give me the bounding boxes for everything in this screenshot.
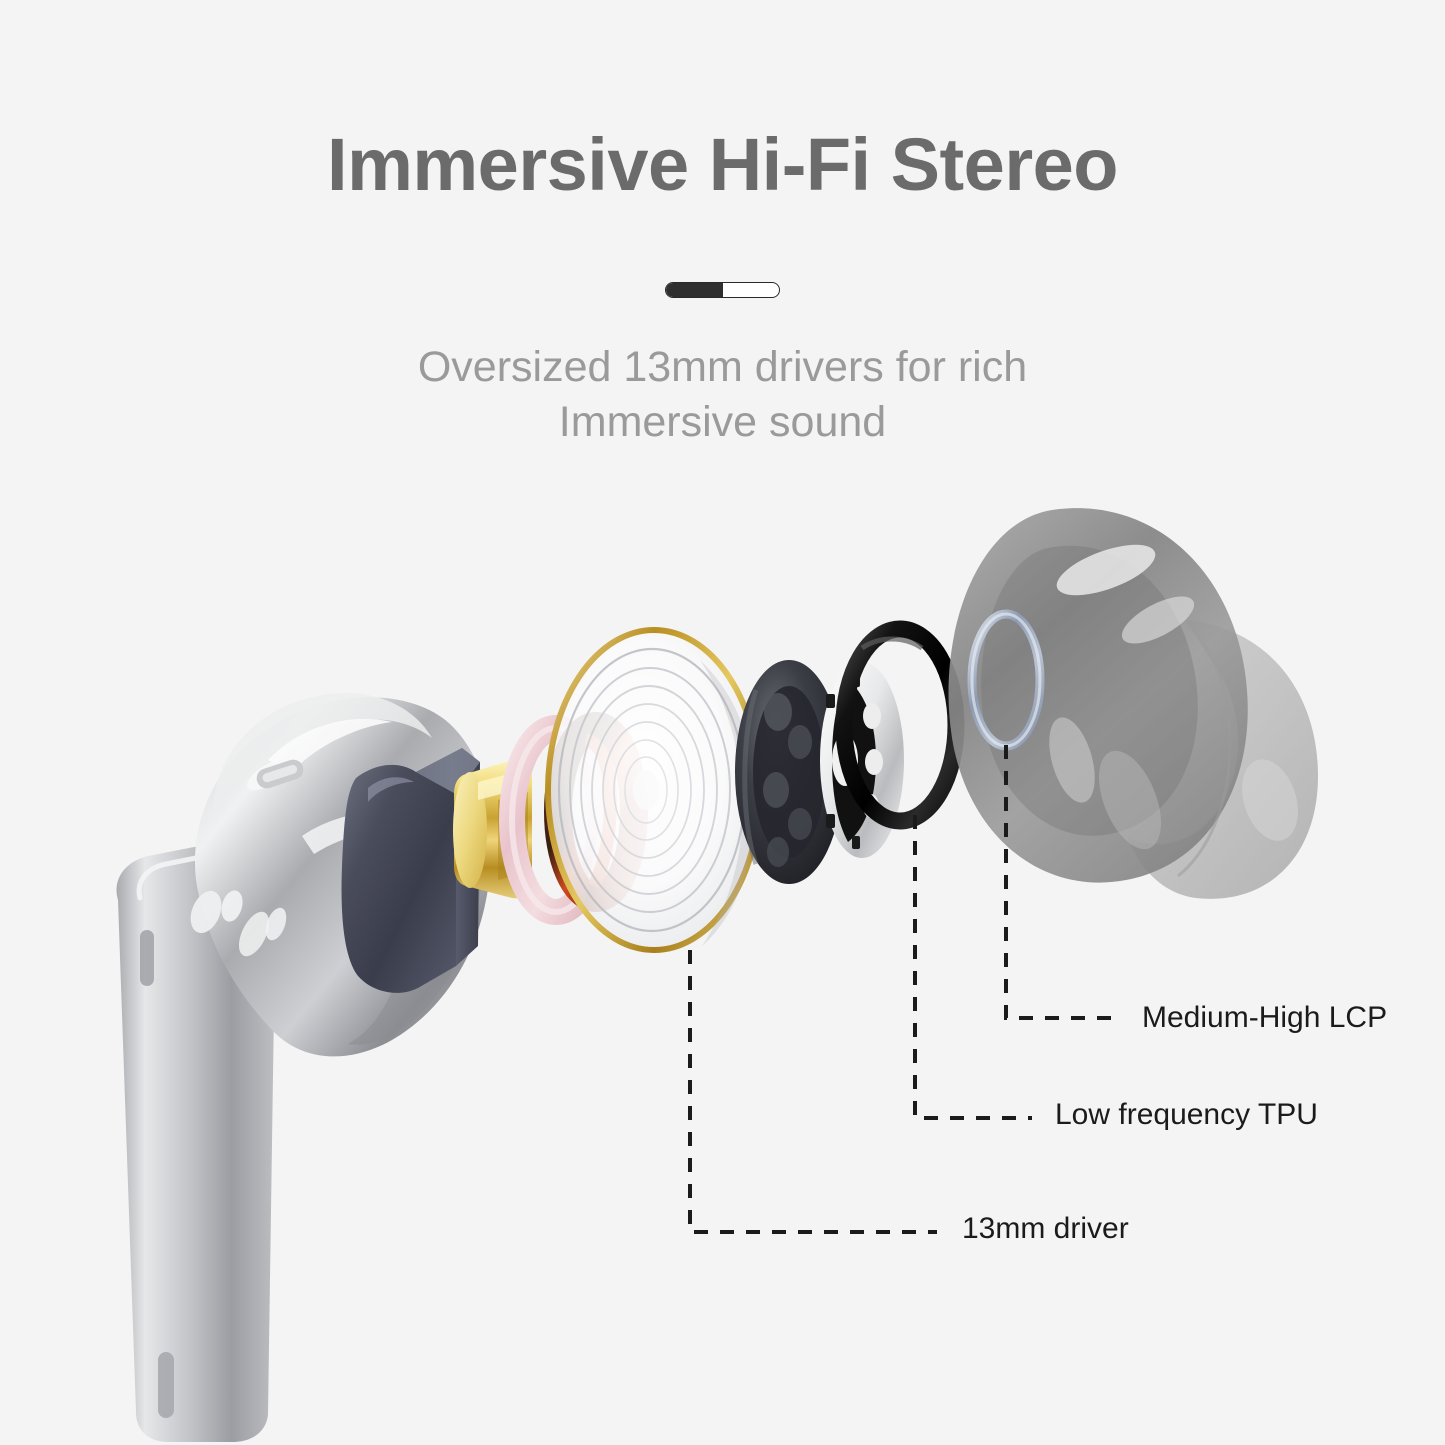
dark-facet (342, 748, 480, 993)
infographic-canvas: Immersive Hi-Fi Stereo Oversized 13mm dr… (0, 0, 1445, 1445)
callout-label-13mm-driver: 13mm driver (962, 1214, 1129, 1244)
page-title: Immersive Hi-Fi Stereo (0, 128, 1445, 202)
leader-line-medium-high-lcp (1006, 745, 1118, 1018)
copper-coil (558, 726, 634, 898)
lcp-ring (972, 614, 1040, 746)
rose-gold-ring (512, 728, 600, 912)
progress-pill-fill (666, 283, 723, 297)
progress-pill-divider (665, 282, 780, 298)
callout-label-medium-high-lcp: Medium-High LCP (1142, 1003, 1387, 1033)
exploded-earbud-diagram (0, 0, 1445, 1445)
ear-tip (949, 508, 1318, 899)
leader-line-13mm-driver (690, 950, 937, 1232)
backplate (820, 662, 904, 858)
earbud-shell (116, 693, 492, 1442)
subtitle-line-2: Immersive sound (0, 395, 1445, 450)
gold-nozzle (453, 759, 532, 898)
tpu-oring (844, 629, 956, 821)
leader-line-low-frequency-tpu (915, 815, 1032, 1118)
magnet-assembly (735, 660, 843, 884)
driver-diaphragm (548, 630, 760, 950)
subtitle-line-1: Oversized 13mm drivers for rich (0, 340, 1445, 395)
page-subtitle: Oversized 13mm drivers for rich Immersiv… (0, 340, 1445, 450)
callout-label-low-frequency-tpu: Low frequency TPU (1055, 1100, 1318, 1130)
callout-leader-lines (690, 745, 1118, 1232)
